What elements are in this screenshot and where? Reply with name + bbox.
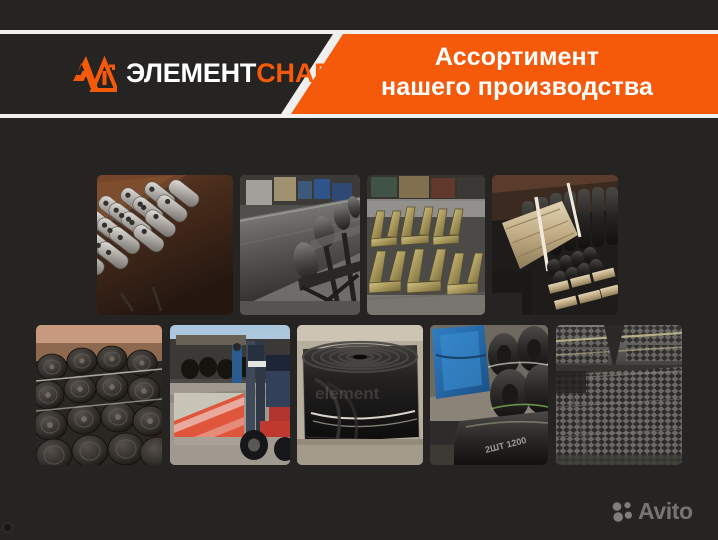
metal-chain-plates-photo (97, 175, 233, 315)
ad-image-canvas: ЭЛЕМЕНТСНАБ Ассортимент нашего производс… (0, 0, 718, 540)
avito-watermark-label: Avito (638, 500, 693, 523)
gallery-item-stacked-conveyor-rollers[interactable] (36, 325, 162, 465)
headline: Ассортимент нашего производства (322, 42, 712, 102)
gallery-item-bundled-rollers-pallet[interactable] (492, 175, 618, 315)
gallery-item-expanded-metal-mesh[interactable] (556, 325, 682, 465)
bundled-rollers-pallet-photo (492, 175, 618, 315)
gallery-item-forklift-loading[interactable] (170, 325, 290, 465)
corner-marker-dot (4, 524, 11, 531)
brand-logo[interactable]: ЭЛЕМЕНТСНАБ (73, 48, 333, 98)
gallery-item-conveyor-belt-roll[interactable]: element (297, 325, 423, 465)
gallery-item-conveyor-belt-rollers[interactable] (240, 175, 360, 315)
avito-dots-logo-icon (612, 501, 633, 522)
header-top-rule (0, 30, 718, 34)
header-bottom-rule (0, 114, 718, 118)
expanded-metal-mesh-photo (556, 325, 682, 465)
conveyor-belt-roll-photo: element (297, 325, 423, 465)
brand-word-element: ЭЛЕМЕНТ (126, 58, 256, 88)
gallery-item-belt-rolls-storage[interactable]: 2ШТ 1200 (430, 325, 548, 465)
stacked-conveyor-rollers-photo (36, 325, 162, 465)
svg-text:element: element (315, 384, 380, 403)
elementsnab-triangle-logo-icon (73, 54, 117, 92)
headline-line-1: Ассортимент (435, 43, 599, 71)
brand-wordmark: ЭЛЕМЕНТСНАБ (126, 60, 333, 87)
gallery-item-roller-brackets-pallet[interactable] (367, 175, 485, 315)
conveyor-belt-rollers-photo (240, 175, 360, 315)
belt-rolls-storage-photo: 2ШТ 1200 (430, 325, 548, 465)
roller-brackets-pallet-photo (367, 175, 485, 315)
gallery-item-metal-chain-plates[interactable] (97, 175, 233, 315)
header-banner: ЭЛЕМЕНТСНАБ Ассортимент нашего производс… (0, 0, 718, 140)
avito-watermark: Avito (612, 500, 693, 523)
headline-line-2: нашего производства (322, 72, 712, 102)
forklift-loading-photo (170, 325, 290, 465)
